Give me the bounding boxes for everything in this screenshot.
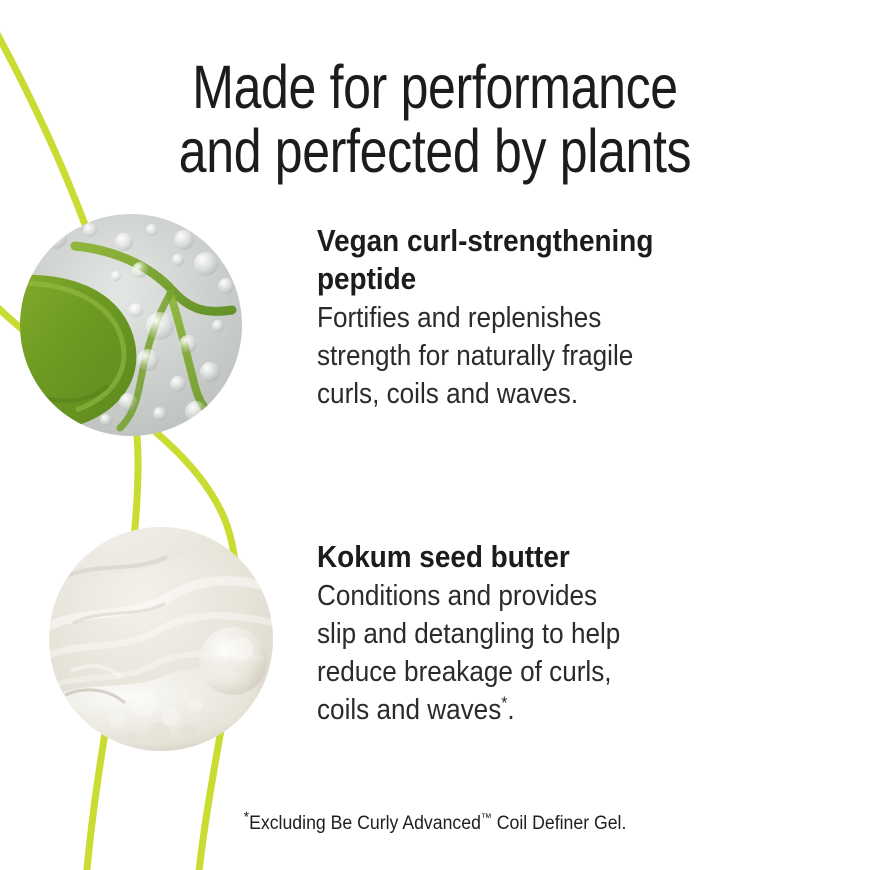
feature-desc-kokum-line-3: reduce breakage of curls, <box>317 653 731 691</box>
feature-title-kokum: Kokum seed butter <box>317 538 731 576</box>
feature-desc-peptide: Fortifies and replenishes strength for n… <box>317 299 731 413</box>
ingredient-image-peptide <box>20 214 242 436</box>
feature-peptide: Vegan curl-strengthening peptide Fortifi… <box>317 222 777 413</box>
feature-desc-kokum-line-1: Conditions and provides <box>317 577 731 615</box>
feature-desc-kokum-line-2: slip and detangling to help <box>317 615 731 653</box>
footnote: *Excluding Be Curly Advanced™ Coil Defin… <box>30 812 839 836</box>
feature-title-peptide-line-2: peptide <box>317 261 416 296</box>
footnote-text-after-tm: Coil Definer Gel. <box>492 813 627 834</box>
trademark-icon: ™ <box>481 812 492 825</box>
page-title: Made for performance and perfected by pl… <box>78 55 791 183</box>
headline-line-2: and perfected by plants <box>78 119 791 183</box>
feature-desc-peptide-line-2: strength for naturally fragile <box>317 337 731 375</box>
feature-desc-kokum-line-4-period: . <box>507 694 514 726</box>
feature-desc-peptide-line-1: Fortifies and replenishes <box>317 299 731 337</box>
feature-title-peptide-line-1: Vegan curl-strengthening <box>317 223 653 258</box>
feature-title-peptide: Vegan curl-strengthening peptide <box>317 222 731 298</box>
ingredient-image-kokum <box>49 527 273 751</box>
feature-desc-peptide-line-3: curls, coils and waves. <box>317 375 731 413</box>
feature-desc-kokum-line-4-text: coils and waves <box>317 694 501 726</box>
feature-kokum: Kokum seed butter Conditions and provide… <box>317 538 777 729</box>
headline-line-1: Made for performance <box>78 55 791 119</box>
footnote-text-before-tm: Excluding Be Curly Advanced <box>249 813 481 834</box>
feature-desc-kokum: Conditions and provides slip and detangl… <box>317 577 731 729</box>
feature-desc-kokum-line-4: coils and waves*. <box>317 691 731 729</box>
product-infographic: Made for performance and perfected by pl… <box>0 0 870 870</box>
